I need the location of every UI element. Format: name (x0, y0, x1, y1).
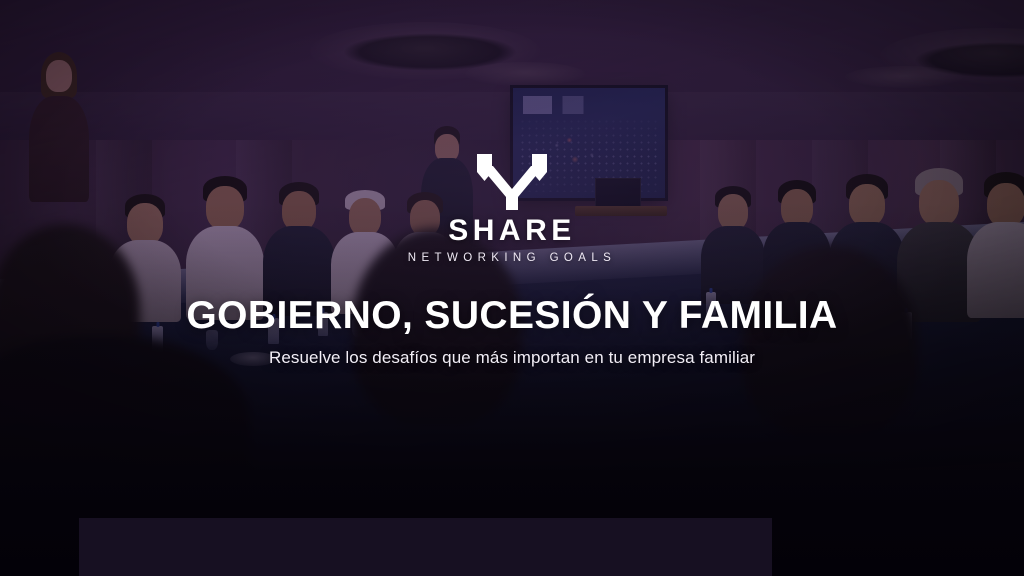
hero-banner: SHARE NETWORKING GOALS GOBIERNO, SUCESIÓ… (0, 0, 1024, 576)
share-chevron-logo-icon (477, 152, 547, 210)
page-subtitle: Resuelve los desafíos que más importan e… (269, 348, 755, 368)
page-title: GOBIERNO, SUCESIÓN Y FAMILIA (186, 296, 837, 337)
lower-content-panel (79, 518, 772, 576)
brand-tagline: NETWORKING GOALS (408, 253, 616, 265)
hero-text: GOBIERNO, SUCESIÓN Y FAMILIA Resuelve lo… (0, 296, 1024, 368)
hero-content: SHARE NETWORKING GOALS GOBIERNO, SUCESIÓ… (0, 0, 1024, 576)
brand-name: SHARE (448, 216, 576, 246)
brand-lockup: SHARE NETWORKING GOALS (0, 152, 1024, 265)
